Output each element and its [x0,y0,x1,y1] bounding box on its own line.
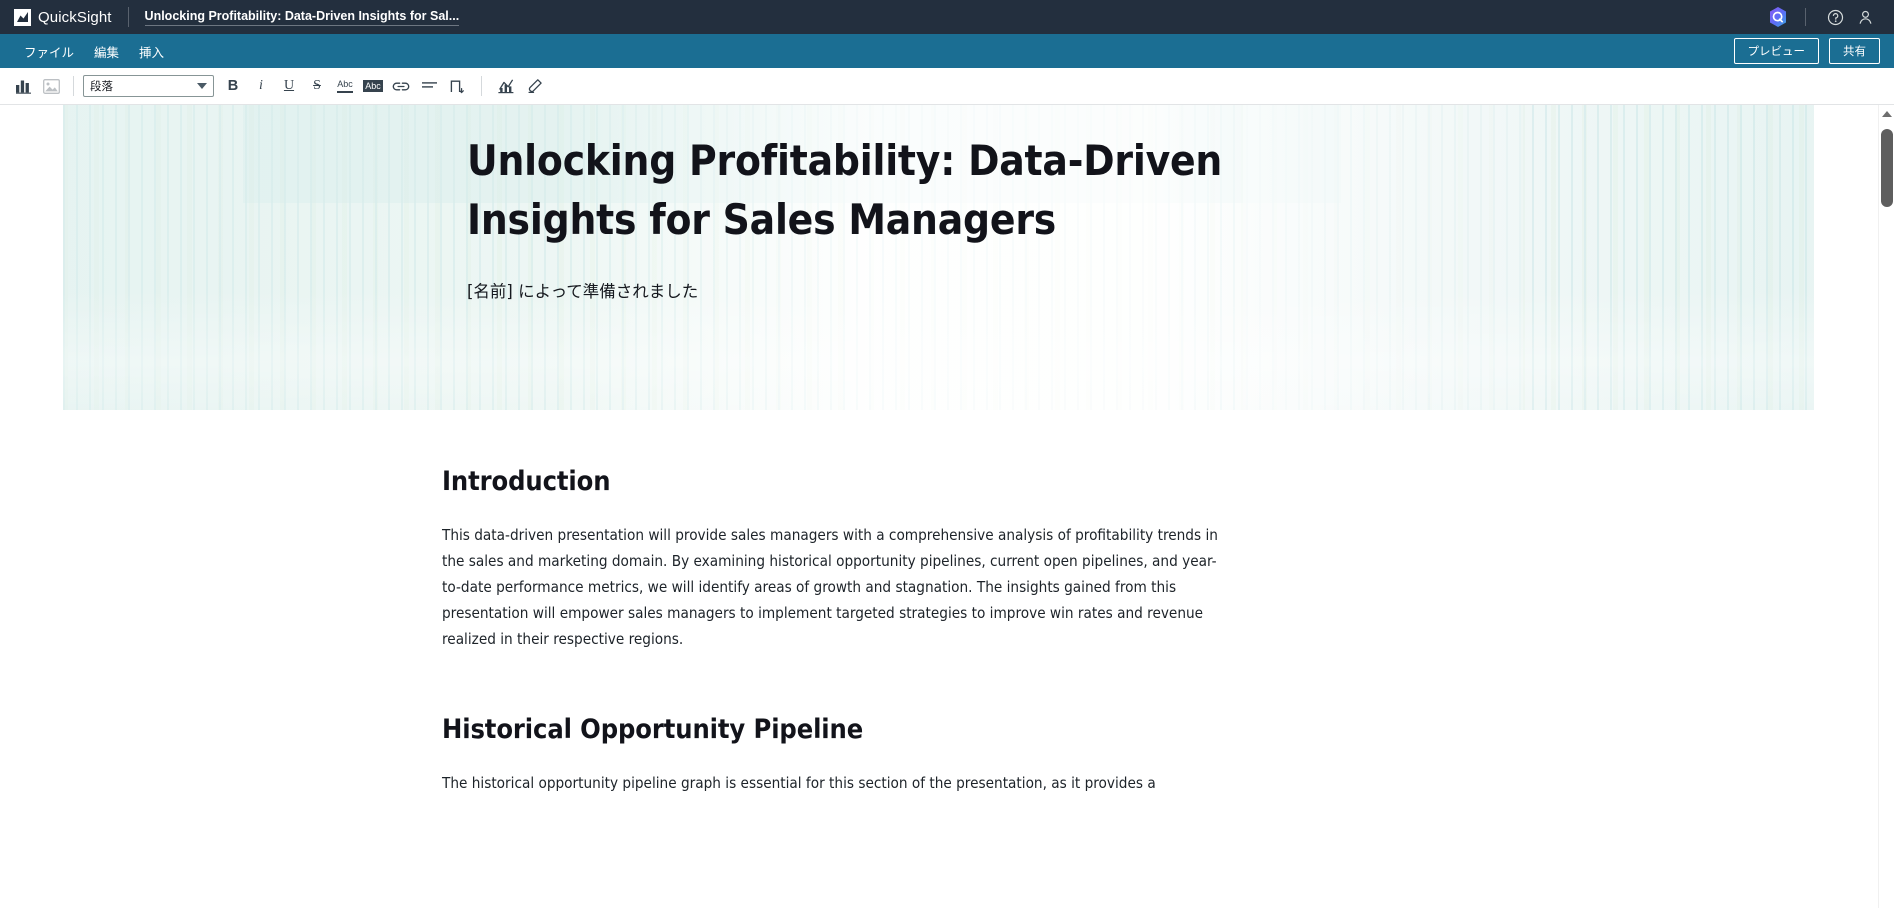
paragraph-style-select[interactable]: 段落 [83,75,214,97]
appbar-divider-2 [1805,8,1806,26]
share-button[interactable]: 共有 [1829,38,1880,64]
document-title[interactable]: Unlocking Profitability: Data-Driven Ins… [145,9,460,26]
scroll-thumb[interactable] [1881,129,1893,207]
highlight-color-button[interactable]: Abc [360,73,386,99]
document-body: Introduction This data-driven presentati… [63,410,1814,796]
underline-label: U [284,79,294,93]
menu-insert[interactable]: 挿入 [129,38,174,65]
toolbar-divider-1 [73,76,74,96]
text-color-button[interactable]: Abc [332,73,358,99]
appbar-divider [128,7,129,27]
underline-button[interactable]: U [276,73,302,99]
hero-content: Unlocking Profitability: Data-Driven Ins… [63,105,1814,302]
chevron-up-icon [1882,111,1892,117]
toolbar-divider-2 [481,76,482,96]
highlight-label: Abc [363,80,383,92]
clear-formatting-brush-icon[interactable] [521,73,547,99]
text-color-label: Abc [337,79,353,92]
italic-label: i [259,79,263,93]
image-icon[interactable] [38,73,64,99]
vertical-scrollbar[interactable] [1878,105,1894,908]
italic-button[interactable]: i [248,73,274,99]
section-paragraph-historical-opportunity-pipeline[interactable]: The historical opportunity pipeline grap… [442,770,1228,796]
menu-file[interactable]: ファイル [14,38,84,65]
format-toolbar: 段落 B i U S Abc Abc [0,68,1894,105]
section-spacer [442,652,1814,714]
brand-name: QuickSight [38,9,112,26]
app-bar-actions [1765,4,1880,30]
app-bar: QuickSight Unlocking Profitability: Data… [0,0,1894,34]
strikethrough-label: S [313,79,321,93]
menu-edit[interactable]: 編集 [84,38,129,65]
indent-icon[interactable] [444,73,470,99]
page-byline[interactable]: [名前] によって準備されました [467,278,1814,302]
quicksight-logo [14,9,31,26]
link-icon[interactable] [388,73,414,99]
menu-bar: ファイル 編集 挿入 プレビュー 共有 [0,34,1894,68]
scroll-up-arrow[interactable] [1879,105,1894,122]
paragraph-style-value: 段落 [90,78,113,94]
bold-button[interactable]: B [220,73,246,99]
preview-button[interactable]: プレビュー [1734,38,1820,64]
page-right-margin [1814,105,1878,908]
brand[interactable]: QuickSight [14,9,112,26]
bar-chart-icon[interactable] [10,73,36,99]
amazon-q-icon[interactable] [1765,4,1791,30]
align-left-icon[interactable] [416,73,442,99]
help-circle-icon[interactable] [1820,4,1850,30]
hero-bottom-fade [63,290,1814,410]
page-title[interactable]: Unlocking Profitability: Data-Driven Ins… [467,131,1257,249]
section-paragraph-introduction[interactable]: This data-driven presentation will provi… [442,522,1228,652]
menu-bar-actions: プレビュー 共有 [1734,38,1881,64]
chevron-down-icon [197,83,207,89]
section-heading-historical-opportunity-pipeline[interactable]: Historical Opportunity Pipeline [442,714,1814,745]
document-canvas: Unlocking Profitability: Data-Driven Ins… [0,105,1894,908]
strikethrough-button[interactable]: S [304,73,330,99]
bold-label: B [228,79,238,94]
user-account-icon[interactable] [1850,4,1880,30]
sparkline-format-icon[interactable] [493,73,519,99]
document-hero-banner: Unlocking Profitability: Data-Driven Ins… [63,105,1814,410]
document-page: Unlocking Profitability: Data-Driven Ins… [63,105,1814,796]
section-heading-introduction[interactable]: Introduction [442,466,1814,497]
